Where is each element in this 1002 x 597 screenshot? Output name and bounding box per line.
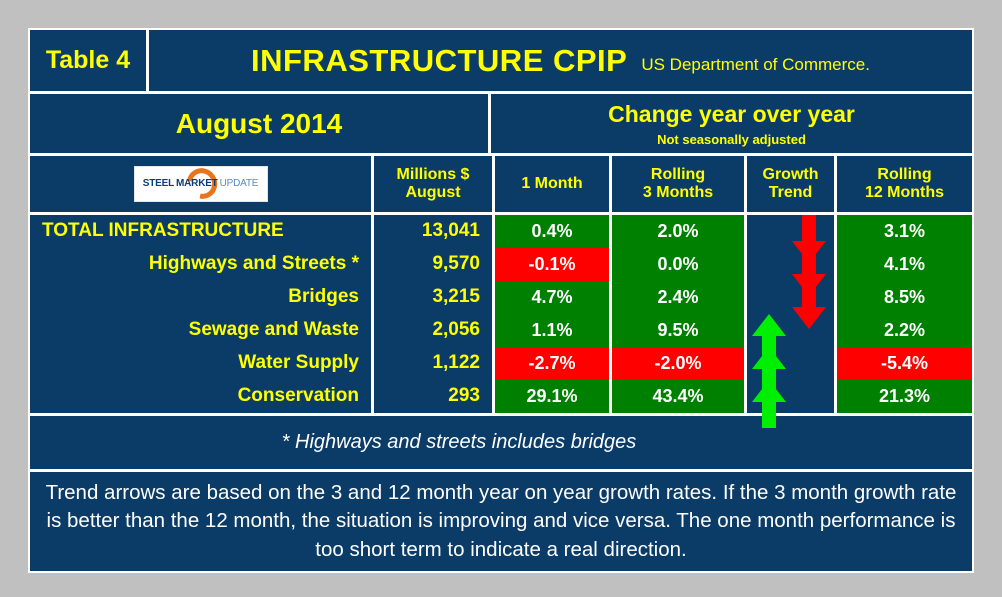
row-growth-trend-cell bbox=[747, 380, 834, 413]
row-value-rolling-3: 2.0% bbox=[612, 215, 744, 248]
row-value-rolling-3: 9.5% bbox=[612, 314, 744, 347]
footnote-row: * Highways and streets includes bridges bbox=[30, 416, 972, 469]
row-value-rolling-12: 2.2% bbox=[837, 314, 972, 347]
row-value-millions-text: 13,041 bbox=[422, 220, 480, 242]
column-header-line1: Millions $ bbox=[397, 166, 470, 184]
row-value-rolling-12: 21.3% bbox=[837, 380, 972, 413]
column-header-millions: Millions $ August bbox=[374, 156, 492, 212]
row-value-one-month-text: 29.1% bbox=[526, 386, 577, 407]
row-value-millions: 9,570 bbox=[374, 248, 492, 281]
page-title: INFRASTRUCTURE CPIP bbox=[251, 43, 627, 79]
row-value-one-month: 4.7% bbox=[495, 281, 609, 314]
period-text: August 2014 bbox=[176, 108, 343, 140]
row-value-millions-text: 293 bbox=[448, 385, 480, 407]
footnote-text: * Highways and streets includes bridges bbox=[282, 431, 637, 454]
row-value-millions: 3,215 bbox=[374, 281, 492, 314]
row-value-one-month: -0.1% bbox=[495, 248, 609, 281]
row-value-millions-text: 2,056 bbox=[432, 319, 480, 341]
row-value-one-month-text: 4.7% bbox=[531, 287, 572, 308]
row-value-rolling-3-text: 0.0% bbox=[657, 254, 698, 275]
column-header-one-month: 1 Month bbox=[495, 156, 609, 212]
period-label: August 2014 bbox=[30, 94, 488, 153]
row-value-rolling-12: -5.4% bbox=[837, 347, 972, 380]
column-header-rolling-3-months: Rolling 3 Months bbox=[612, 156, 744, 212]
logo-word-update: UPDATE bbox=[220, 178, 259, 190]
column-header-line1: Rolling bbox=[651, 166, 705, 184]
change-header-cell: Change year over year Not seasonally adj… bbox=[491, 94, 972, 153]
row-value-rolling-12-text: 21.3% bbox=[879, 386, 930, 407]
row-value-one-month-text: -0.1% bbox=[528, 254, 575, 275]
row-value-rolling-3-text: 9.5% bbox=[657, 320, 698, 341]
row-label: Water Supply bbox=[30, 347, 371, 380]
row-value-one-month-text: 0.4% bbox=[531, 221, 572, 242]
row-value-millions: 2,056 bbox=[374, 314, 492, 347]
row-value-one-month-text: -2.7% bbox=[528, 353, 575, 374]
row-value-rolling-3-text: 2.0% bbox=[657, 221, 698, 242]
spreadsheet-canvas: Table 4 INFRASTRUCTURE CPIP US Departmen… bbox=[0, 0, 1002, 597]
row-value-rolling-3-text: -2.0% bbox=[654, 353, 701, 374]
row-label: Highways and Streets * bbox=[30, 248, 371, 281]
column-header-line1: 1 Month bbox=[521, 175, 582, 193]
explanation-row: Trend arrows are based on the 3 and 12 m… bbox=[30, 472, 972, 571]
row-value-rolling-12-text: 3.1% bbox=[884, 221, 925, 242]
row-label: Sewage and Waste bbox=[30, 314, 371, 347]
column-header-line2: 12 Months bbox=[865, 184, 944, 202]
logo-word-steel: STEEL bbox=[143, 178, 174, 190]
row-value-rolling-12-text: 4.1% bbox=[884, 254, 925, 275]
column-header-line2: August bbox=[405, 184, 460, 202]
row-value-one-month-text: 1.1% bbox=[531, 320, 572, 341]
row-value-rolling-3: 0.0% bbox=[612, 248, 744, 281]
row-growth-trend-cell bbox=[747, 314, 834, 347]
row-label: TOTAL INFRASTRUCTURE bbox=[30, 215, 371, 248]
row-value-millions: 293 bbox=[374, 380, 492, 413]
row-value-rolling-12-text: -5.4% bbox=[881, 353, 928, 374]
table-number-text: Table 4 bbox=[46, 46, 130, 75]
row-value-rolling-12: 3.1% bbox=[837, 215, 972, 248]
row-growth-trend-cell bbox=[747, 347, 834, 380]
seasonal-adjustment-note: Not seasonally adjusted bbox=[657, 132, 806, 147]
column-header-line1: Growth bbox=[763, 166, 819, 184]
column-header-growth-trend: Growth Trend bbox=[747, 156, 834, 212]
data-source-label: US Department of Commerce. bbox=[641, 55, 870, 75]
row-value-rolling-3: -2.0% bbox=[612, 347, 744, 380]
row-value-millions-text: 1,122 bbox=[432, 352, 480, 374]
table-number-label: Table 4 bbox=[30, 30, 146, 91]
row-label-text: Sewage and Waste bbox=[189, 319, 359, 341]
row-value-rolling-3-text: 2.4% bbox=[657, 287, 698, 308]
column-header-line2: Trend bbox=[769, 184, 813, 202]
explanation-text: Trend arrows are based on the 3 and 12 m… bbox=[36, 479, 966, 564]
row-growth-trend-cell bbox=[747, 281, 834, 314]
table-title-cell: INFRASTRUCTURE CPIP US Department of Com… bbox=[149, 30, 972, 91]
row-value-rolling-12-text: 8.5% bbox=[884, 287, 925, 308]
row-value-one-month: -2.7% bbox=[495, 347, 609, 380]
row-label: Conservation bbox=[30, 380, 371, 413]
row-value-rolling-3: 2.4% bbox=[612, 281, 744, 314]
row-value-one-month: 29.1% bbox=[495, 380, 609, 413]
row-value-millions: 13,041 bbox=[374, 215, 492, 248]
infrastructure-cpip-table: Table 4 INFRASTRUCTURE CPIP US Departmen… bbox=[28, 28, 974, 573]
row-growth-trend-cell bbox=[747, 248, 834, 281]
column-header-line1: Rolling bbox=[877, 166, 931, 184]
row-value-rolling-3: 43.4% bbox=[612, 380, 744, 413]
logo-cell: STEEL MARKET UPDATE bbox=[30, 156, 371, 212]
column-header-line2: 3 Months bbox=[643, 184, 713, 202]
row-label: Bridges bbox=[30, 281, 371, 314]
logo-word-market: MARKET bbox=[176, 178, 218, 190]
steel-market-update-logo: STEEL MARKET UPDATE bbox=[134, 166, 268, 202]
row-label-text: Highways and Streets * bbox=[149, 253, 359, 275]
row-value-rolling-3-text: 43.4% bbox=[652, 386, 703, 407]
row-value-one-month: 1.1% bbox=[495, 314, 609, 347]
row-label-text: Conservation bbox=[238, 385, 359, 407]
row-value-millions-text: 9,570 bbox=[432, 253, 480, 275]
row-value-millions: 1,122 bbox=[374, 347, 492, 380]
row-value-rolling-12: 4.1% bbox=[837, 248, 972, 281]
row-value-rolling-12: 8.5% bbox=[837, 281, 972, 314]
row-label-text: Water Supply bbox=[238, 352, 359, 374]
row-growth-trend-cell bbox=[747, 215, 834, 248]
row-value-rolling-12-text: 2.2% bbox=[884, 320, 925, 341]
row-label-text: Bridges bbox=[288, 286, 359, 308]
row-value-millions-text: 3,215 bbox=[432, 286, 480, 308]
row-value-one-month: 0.4% bbox=[495, 215, 609, 248]
row-label-text: TOTAL INFRASTRUCTURE bbox=[42, 220, 284, 242]
column-header-rolling-12-months: Rolling 12 Months bbox=[837, 156, 972, 212]
change-title: Change year over year bbox=[608, 101, 855, 128]
